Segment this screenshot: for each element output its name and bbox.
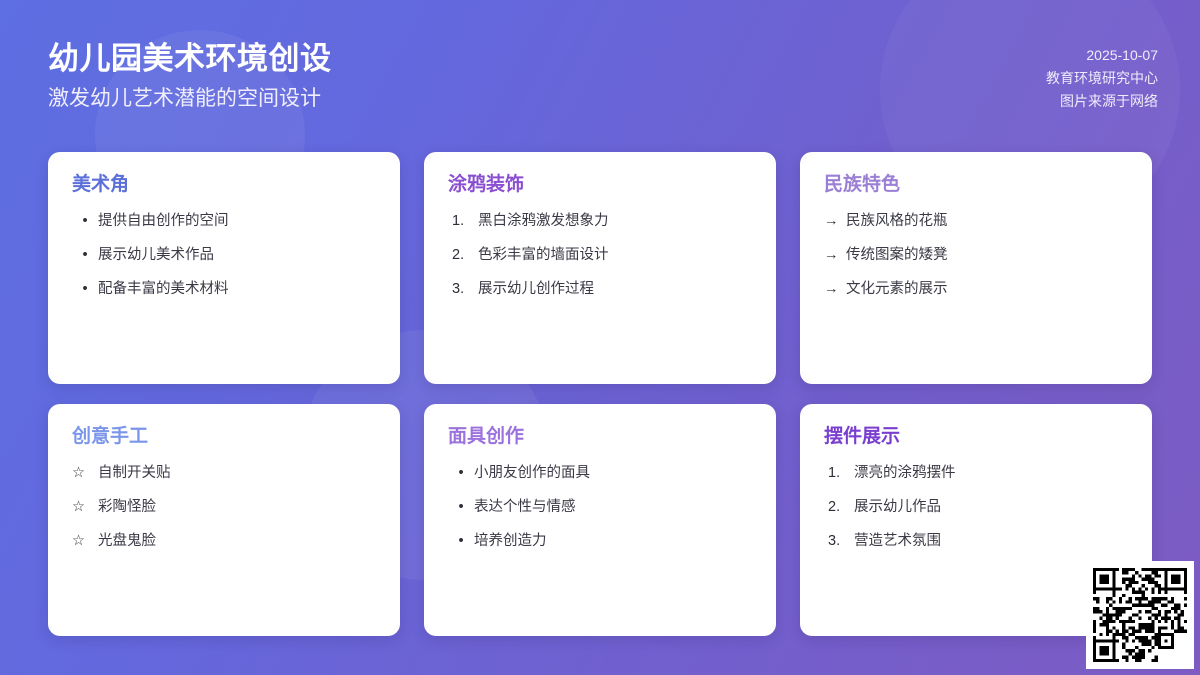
list-item-label: 展示幼儿美术作品 <box>98 245 376 266</box>
list-item: →民族风格的花瓶 <box>824 211 1128 232</box>
list-item-label: 传统图案的矮凳 <box>846 245 1128 266</box>
content-card[interactable]: 面具创作•小朋友创作的面具•表达个性与情感•培养创造力 <box>424 404 776 636</box>
header-date: 2025-10-07 <box>1046 44 1158 67</box>
page-title: 幼儿园美术环境创设 <box>48 40 332 79</box>
list-marker-bullet-icon: • <box>448 463 474 484</box>
card-list: •提供自由创作的空间•展示幼儿美术作品•配备丰富的美术材料 <box>72 211 376 300</box>
list-item-label: 色彩丰富的墙面设计 <box>478 245 752 266</box>
list-marker-ordered-icon: 2. <box>824 497 854 518</box>
card-list: 1.黑白涂鸦激发想象力2.色彩丰富的墙面设计3.展示幼儿创作过程 <box>448 211 752 300</box>
card-title: 美术角 <box>72 174 376 197</box>
card-list: 1.漂亮的涂鸦摆件2.展示幼儿作品3.营造艺术氛围 <box>824 463 1128 552</box>
list-item-label: 营造艺术氛围 <box>854 531 1128 552</box>
list-item-label: 自制开关贴 <box>98 463 376 484</box>
list-marker-bullet-icon: • <box>72 211 98 232</box>
slide-header: 幼儿园美术环境创设 激发幼儿艺术潜能的空间设计 2025-10-07 教育环境研… <box>0 0 1200 136</box>
card-title: 面具创作 <box>448 426 752 449</box>
list-item: 2.色彩丰富的墙面设计 <box>448 245 752 266</box>
card-title: 创意手工 <box>72 426 376 449</box>
card-title: 民族特色 <box>824 174 1128 197</box>
content-card[interactable]: 民族特色→民族风格的花瓶→传统图案的矮凳→文化元素的展示 <box>800 152 1152 384</box>
list-item: 3.营造艺术氛围 <box>824 531 1128 552</box>
page-subtitle: 激发幼儿艺术潜能的空间设计 <box>48 85 332 112</box>
card-title: 涂鸦装饰 <box>448 174 752 197</box>
header-organization: 教育环境研究中心 <box>1046 67 1158 90</box>
list-item-label: 漂亮的涂鸦摆件 <box>854 463 1128 484</box>
list-marker-ordered-icon: 1. <box>824 463 854 484</box>
list-item: •小朋友创作的面具 <box>448 463 752 484</box>
list-item-label: 小朋友创作的面具 <box>474 463 752 484</box>
list-marker-ordered-icon: 3. <box>448 279 478 300</box>
header-source: 图片来源于网络 <box>1046 90 1158 113</box>
list-item-label: 民族风格的花瓶 <box>846 211 1128 232</box>
list-marker-ordered-icon: 1. <box>448 211 478 232</box>
list-marker-ordered-icon: 2. <box>448 245 478 266</box>
list-item-label: 展示幼儿作品 <box>854 497 1128 518</box>
list-marker-bullet-icon: • <box>72 245 98 266</box>
qr-code[interactable] <box>1086 561 1194 669</box>
list-marker-star-icon: ☆ <box>72 463 98 484</box>
list-item-label: 彩陶怪脸 <box>98 497 376 518</box>
qr-code-image <box>1093 568 1187 662</box>
card-grid: 美术角•提供自由创作的空间•展示幼儿美术作品•配备丰富的美术材料涂鸦装饰1.黑白… <box>48 152 1152 636</box>
list-item: ☆彩陶怪脸 <box>72 497 376 518</box>
slide-root: 幼儿园美术环境创设 激发幼儿艺术潜能的空间设计 2025-10-07 教育环境研… <box>0 0 1200 675</box>
list-marker-arrow-icon: → <box>824 245 846 266</box>
list-item: ☆自制开关贴 <box>72 463 376 484</box>
list-item: 3.展示幼儿创作过程 <box>448 279 752 300</box>
card-list: •小朋友创作的面具•表达个性与情感•培养创造力 <box>448 463 752 552</box>
list-item-label: 展示幼儿创作过程 <box>478 279 752 300</box>
list-item: →传统图案的矮凳 <box>824 245 1128 266</box>
list-item: •培养创造力 <box>448 531 752 552</box>
list-item-label: 培养创造力 <box>474 531 752 552</box>
list-item-label: 文化元素的展示 <box>846 279 1128 300</box>
list-marker-bullet-icon: • <box>448 497 474 518</box>
list-item: •配备丰富的美术材料 <box>72 279 376 300</box>
header-title-block: 幼儿园美术环境创设 激发幼儿艺术潜能的空间设计 <box>48 40 332 112</box>
list-item-label: 光盘鬼脸 <box>98 531 376 552</box>
list-item-label: 黑白涂鸦激发想象力 <box>478 211 752 232</box>
list-item: 1.黑白涂鸦激发想象力 <box>448 211 752 232</box>
list-item: 1.漂亮的涂鸦摆件 <box>824 463 1128 484</box>
card-title: 摆件展示 <box>824 426 1128 449</box>
list-item-label: 表达个性与情感 <box>474 497 752 518</box>
card-list: ☆自制开关贴☆彩陶怪脸☆光盘鬼脸 <box>72 463 376 552</box>
header-meta-block: 2025-10-07 教育环境研究中心 图片来源于网络 <box>1046 44 1158 113</box>
list-item: ☆光盘鬼脸 <box>72 531 376 552</box>
list-marker-bullet-icon: • <box>448 531 474 552</box>
content-card[interactable]: 创意手工☆自制开关贴☆彩陶怪脸☆光盘鬼脸 <box>48 404 400 636</box>
list-item: •提供自由创作的空间 <box>72 211 376 232</box>
content-card[interactable]: 涂鸦装饰1.黑白涂鸦激发想象力2.色彩丰富的墙面设计3.展示幼儿创作过程 <box>424 152 776 384</box>
list-marker-arrow-icon: → <box>824 279 846 300</box>
card-list: →民族风格的花瓶→传统图案的矮凳→文化元素的展示 <box>824 211 1128 300</box>
list-marker-ordered-icon: 3. <box>824 531 854 552</box>
list-item-label: 配备丰富的美术材料 <box>98 279 376 300</box>
list-marker-arrow-icon: → <box>824 211 846 232</box>
list-marker-bullet-icon: • <box>72 279 98 300</box>
list-item: •表达个性与情感 <box>448 497 752 518</box>
list-item: •展示幼儿美术作品 <box>72 245 376 266</box>
list-item: →文化元素的展示 <box>824 279 1128 300</box>
content-card[interactable]: 美术角•提供自由创作的空间•展示幼儿美术作品•配备丰富的美术材料 <box>48 152 400 384</box>
list-item-label: 提供自由创作的空间 <box>98 211 376 232</box>
list-item: 2.展示幼儿作品 <box>824 497 1128 518</box>
list-marker-star-icon: ☆ <box>72 497 98 518</box>
list-marker-star-icon: ☆ <box>72 531 98 552</box>
